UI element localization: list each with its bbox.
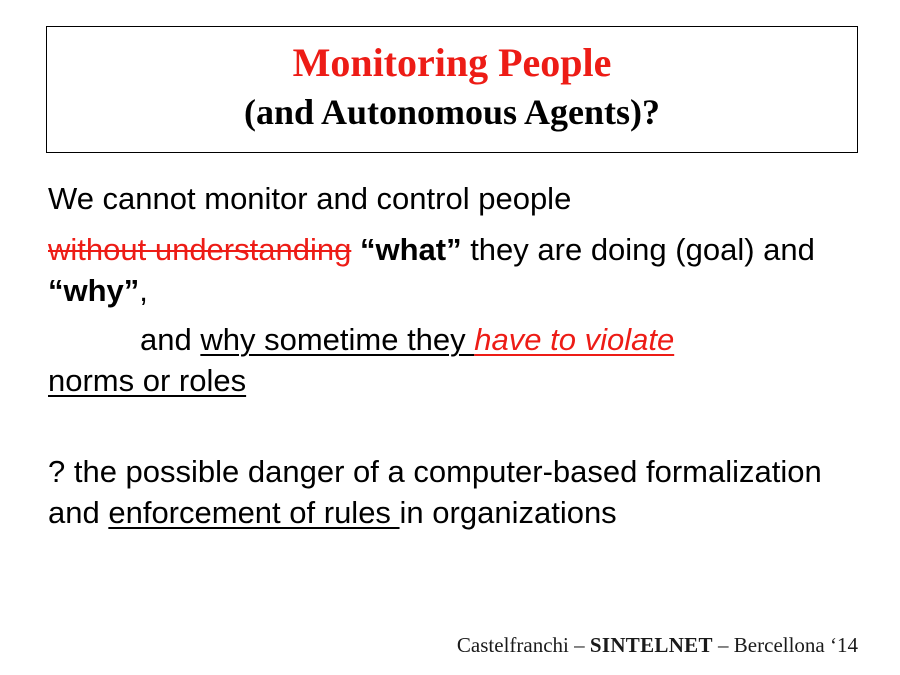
footer-event: SINTELNET [590,633,713,657]
slide-footer: Castelfranchi – SINTELNET – Bercellona ‘… [0,632,858,658]
quoted-why: “why” [48,273,139,308]
body-paragraph-1: We cannot monitor and control people [48,178,878,219]
body-paragraph-2-tail: , [139,273,148,308]
space-sep-1 [351,232,360,267]
footer-author: Castelfranchi [457,633,574,657]
slide-body: We cannot monitor and control people wit… [48,178,878,533]
body-paragraph-2-mid: they are doing (goal) and [462,232,815,267]
body-paragraph-4: ? the possible danger of a computer-base… [48,451,878,533]
title-box: Monitoring People (and Autonomous Agents… [46,26,858,153]
paragraph-spacer [48,401,878,451]
title-line-primary: Monitoring People [293,39,612,87]
title-line-secondary: (and Autonomous Agents)? [244,89,660,135]
footer-dash-1: – [574,633,590,657]
footer-place: Bercellona ‘14 [734,633,858,657]
paragraph-3-lead: and [140,322,200,357]
footer-dash-2: – [713,633,734,657]
body-paragraph-2: without understanding “what” they are do… [48,229,878,311]
red-italic-have-to-violate: have to violate [474,322,674,357]
underlined-enforcement-of-rules: enforcement of rules [108,495,399,530]
paragraph-4-tail: in organizations [400,495,617,530]
slide-canvas: Monitoring People (and Autonomous Agents… [0,0,900,675]
underlined-why-sometime: why sometime they [200,322,474,357]
strikethrough-phrase: without understanding [48,232,351,267]
quoted-what: “what” [360,232,462,267]
body-paragraph-3: and why sometime they have to violatenor… [48,319,878,401]
underlined-norms-or-roles: norms or roles [48,363,246,398]
